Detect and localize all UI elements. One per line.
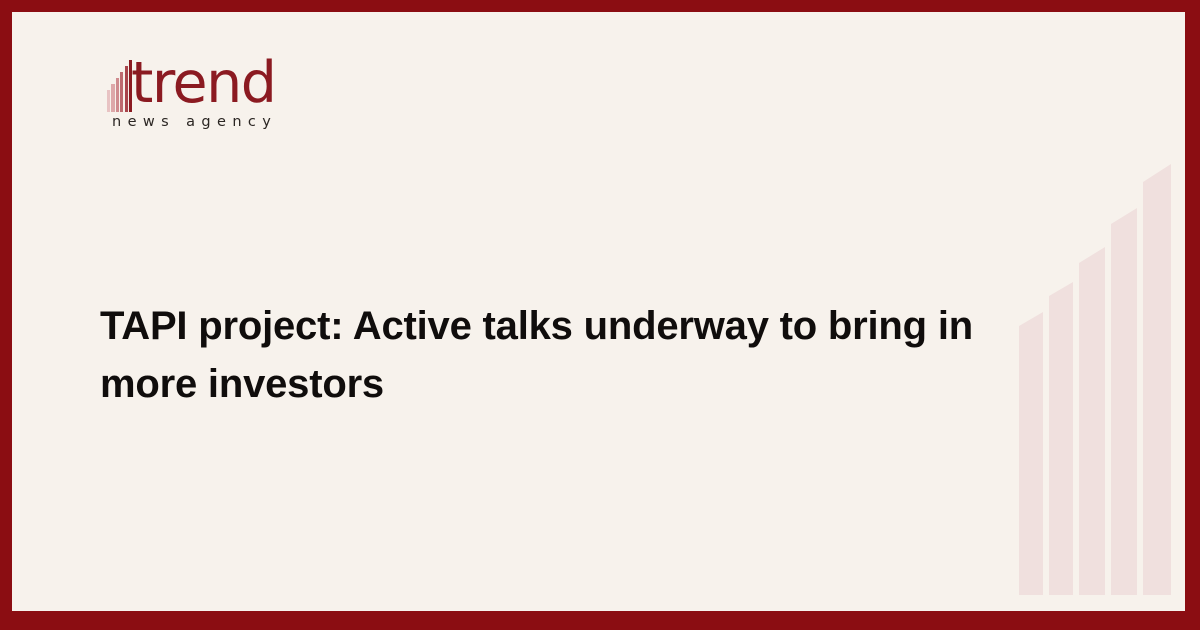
logo-bar-2 [111,84,114,112]
logo-bar-3 [116,78,119,112]
article-headline: TAPI project: Active talks underway to b… [100,297,1050,413]
watermark-bar-3 [1079,247,1105,595]
logo-bar-1 [107,90,110,112]
logo-bar-5 [125,66,128,112]
watermark-bar-2 [1049,282,1073,595]
watermark-bar-4 [1111,208,1137,595]
watermark-bar-5 [1143,164,1171,595]
share-card: trend news agency TAPI project: Active t… [0,0,1200,630]
logo-bar-4 [120,72,123,112]
trend-news-agency-logo[interactable]: trend news agency [107,52,407,147]
card-canvas: trend news agency TAPI project: Active t… [12,12,1185,611]
logo-wordmark: trend [131,52,275,114]
logo-tagline: news agency [112,114,277,130]
